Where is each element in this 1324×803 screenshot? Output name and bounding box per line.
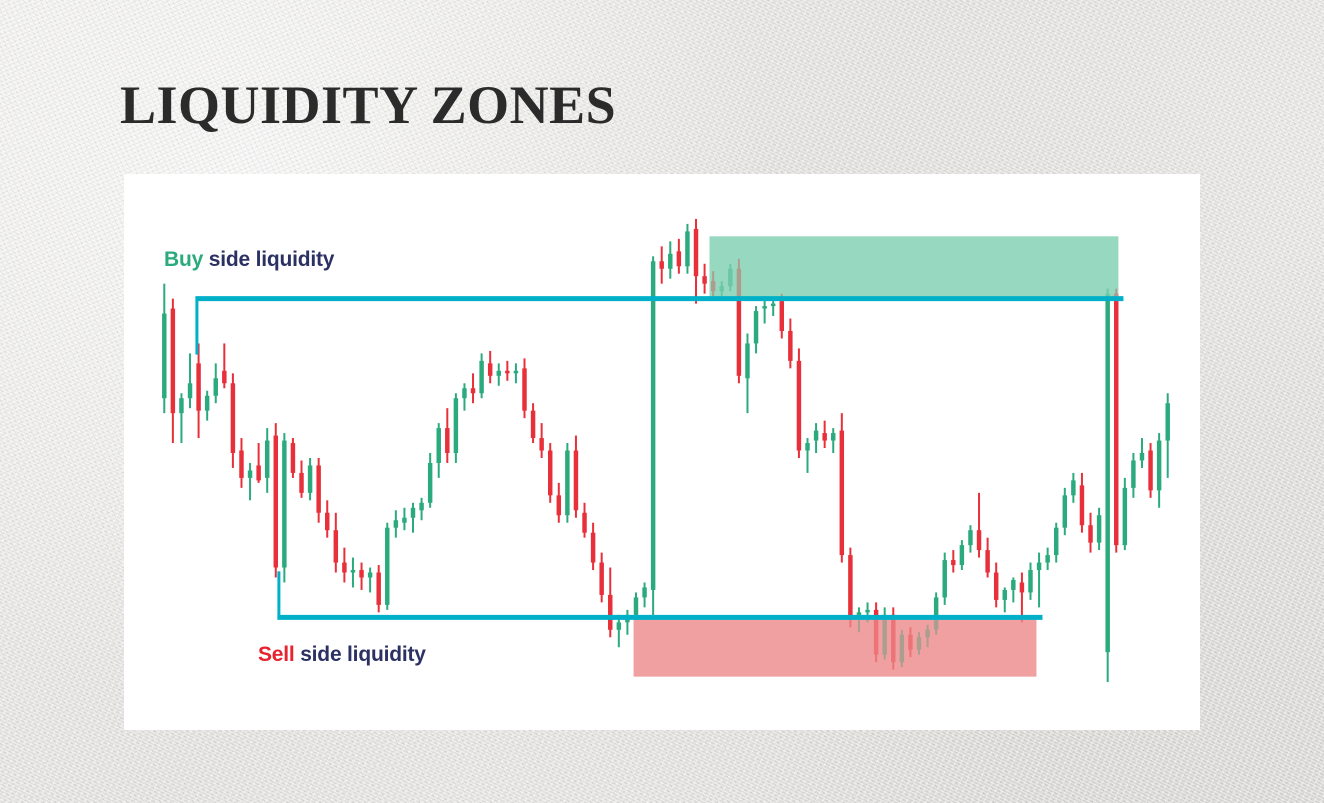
- candle-body: [162, 314, 166, 399]
- candle-body: [1011, 580, 1015, 590]
- candle-body: [1045, 555, 1049, 562]
- candle-body: [694, 229, 698, 276]
- candle-body: [514, 371, 518, 373]
- candle-body: [171, 309, 175, 414]
- candle-body: [1114, 294, 1118, 545]
- candle-body: [805, 443, 809, 450]
- candle-body: [1097, 515, 1101, 542]
- candle-body: [565, 451, 569, 516]
- candle-body: [754, 311, 758, 343]
- candle-body: [196, 363, 200, 410]
- candle-body: [436, 428, 440, 463]
- candle-body: [1131, 460, 1135, 487]
- candle-body: [582, 513, 586, 533]
- candle-body: [1123, 488, 1127, 545]
- buy-side-liquidity-zone-overlay: [710, 236, 1119, 298]
- candle-body: [1063, 495, 1067, 527]
- candle-body: [479, 361, 483, 393]
- sell-label-rest: side liquidity: [295, 643, 426, 666]
- candle-body: [1140, 453, 1144, 460]
- candle-body: [994, 573, 998, 600]
- candle-body: [539, 438, 543, 450]
- candle-body: [428, 463, 432, 503]
- candle-body: [214, 378, 218, 395]
- candle-body: [788, 331, 792, 361]
- candle-body: [848, 555, 852, 620]
- candle-body: [359, 570, 363, 577]
- candle-body: [522, 368, 526, 410]
- candle-body: [1148, 451, 1152, 491]
- candle-body: [968, 530, 972, 545]
- candle-body: [591, 533, 595, 563]
- candle-body: [179, 398, 183, 413]
- buy-side-liquidity-label: Buy side liquidity: [164, 248, 334, 272]
- candle-body: [1071, 480, 1075, 495]
- candle-body: [840, 431, 844, 555]
- page-title: LIQUIDITY ZONES: [120, 78, 616, 132]
- candle-body: [462, 388, 466, 398]
- candle-body: [831, 433, 835, 440]
- candle-body: [505, 371, 509, 373]
- candle-body: [617, 622, 621, 629]
- candle-body: [985, 550, 989, 572]
- candle-body: [299, 473, 303, 493]
- candle-body: [599, 563, 603, 595]
- candle-body: [291, 443, 295, 473]
- sell-keyword: Sell: [258, 643, 295, 666]
- candle-wick: [1038, 553, 1040, 608]
- candle-body: [771, 304, 775, 306]
- candle-body: [642, 587, 646, 597]
- candle-body: [368, 573, 372, 578]
- candle-body: [282, 441, 286, 568]
- candle-body: [702, 276, 706, 283]
- candle-body: [497, 371, 501, 376]
- candle-body: [865, 610, 869, 612]
- candle-wick: [506, 361, 508, 381]
- candle-body: [745, 343, 749, 378]
- candle-body: [1105, 294, 1109, 653]
- candle-body: [822, 433, 826, 440]
- candle-body: [651, 261, 655, 590]
- candle-body: [308, 465, 312, 492]
- candle-body: [814, 431, 818, 441]
- sell-side-liquidity-zone-overlay: [634, 617, 1037, 676]
- candle-body: [316, 465, 320, 512]
- candle-body: [1028, 570, 1032, 592]
- candle-body: [1054, 528, 1058, 555]
- candle-body: [1037, 563, 1041, 570]
- candle-body: [797, 361, 801, 451]
- candle-wick: [772, 299, 774, 316]
- candle-body: [419, 503, 423, 510]
- candle-body: [685, 231, 689, 266]
- candle-body: [1020, 582, 1024, 592]
- candle-body: [531, 411, 535, 438]
- candle-body: [1003, 590, 1007, 600]
- candle-wick: [249, 463, 251, 500]
- candle-body: [471, 388, 475, 393]
- candle-wick: [369, 568, 371, 593]
- candle-body: [256, 465, 260, 480]
- candle-body: [376, 573, 380, 605]
- candle-body: [265, 441, 269, 478]
- candle-body: [608, 595, 612, 630]
- candle-body: [1157, 441, 1161, 491]
- candle-body: [780, 301, 784, 331]
- candle-body: [274, 436, 278, 568]
- candle-body: [411, 508, 415, 518]
- candle-body: [222, 371, 226, 383]
- candle-body: [402, 518, 406, 523]
- candle-body: [668, 254, 672, 269]
- candle-body: [239, 451, 243, 478]
- candle-body: [188, 383, 192, 398]
- candle-body: [574, 451, 578, 511]
- candle-body: [977, 530, 981, 550]
- candle-body: [557, 495, 561, 515]
- candle-body: [548, 451, 552, 496]
- candle-body: [960, 545, 964, 565]
- candle-body: [342, 563, 346, 573]
- candle-body: [1080, 485, 1084, 525]
- candle-body: [205, 396, 209, 411]
- candle-body: [394, 520, 398, 527]
- candle-body: [942, 560, 946, 597]
- candle-wick: [189, 353, 191, 408]
- candle-body: [325, 513, 329, 530]
- candle-body: [248, 470, 252, 477]
- candle-body: [1088, 525, 1092, 542]
- buy-label-rest: side liquidity: [203, 248, 334, 271]
- candle-body: [334, 530, 338, 562]
- candle-body: [351, 570, 355, 572]
- buy-keyword: Buy: [164, 248, 203, 271]
- candle-body: [454, 398, 458, 453]
- candle-body: [445, 428, 449, 453]
- chart-panel: Buy side liquidity Sell side liquidity: [124, 174, 1200, 730]
- candle-body: [231, 383, 235, 453]
- candle-body: [677, 251, 681, 266]
- candle-body: [385, 528, 389, 605]
- candle-body: [762, 306, 766, 308]
- candle-body: [1165, 403, 1169, 440]
- candle-body: [659, 261, 663, 268]
- candle-body: [951, 560, 955, 565]
- sell-side-liquidity-label: Sell side liquidity: [258, 643, 426, 667]
- candle-body: [488, 363, 492, 375]
- candle-body: [634, 597, 638, 614]
